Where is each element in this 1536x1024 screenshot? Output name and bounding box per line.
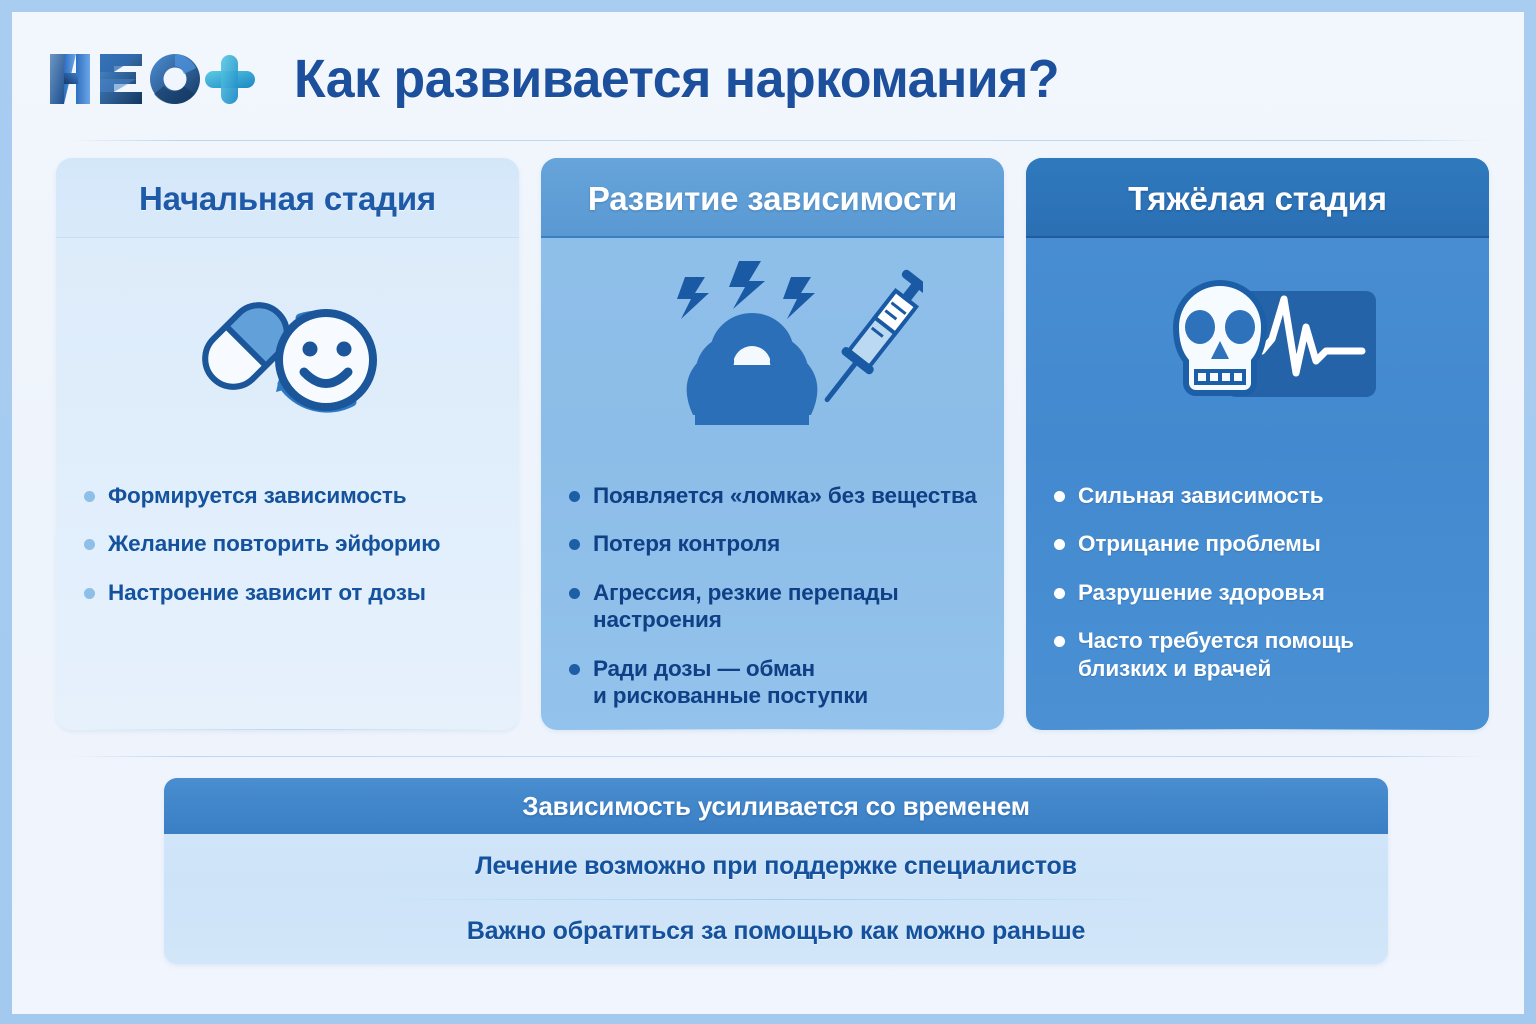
bullet-dot-icon — [1054, 539, 1065, 550]
stage-card-developing: Развитие зависимости — [541, 158, 1004, 730]
stage-icon-zone — [56, 238, 519, 452]
icon-divider — [1054, 729, 1461, 730]
list-item: Появляется «ломка» без вещества — [569, 482, 978, 509]
bullet-dot-icon — [1054, 636, 1065, 647]
bullet-text: Агрессия, резкие перепады настроения — [593, 579, 978, 634]
bullet-text: Разрушение здоровья — [1078, 579, 1325, 606]
stage-card-body: Сильная зависимость Отрицание проблемы Р… — [1026, 238, 1489, 730]
stressed-person-syringe-icon — [623, 255, 923, 435]
page-title: Как развивается наркомания? — [294, 52, 1059, 106]
neo-plus-logo-icon — [44, 46, 260, 112]
bullet-dot-icon — [84, 491, 95, 502]
list-item: Желание повторить эйфорию — [84, 530, 493, 557]
summary-header: Зависимость усиливается со временем — [164, 778, 1388, 834]
summary-row-text: Лечение возможно при поддержке специалис… — [475, 852, 1077, 881]
stage-card-header: Начальная стадия — [56, 158, 519, 238]
bullet-dot-icon — [1054, 491, 1065, 502]
list-item: Агрессия, резкие перепады настроения — [569, 579, 978, 634]
stage-card-header: Развитие зависимости — [541, 158, 1004, 238]
stage-title: Начальная стадия — [139, 182, 436, 215]
infographic-poster: Как развивается наркомания? Начальная ст… — [0, 0, 1536, 1024]
list-item: Настроение зависит от дозы — [84, 579, 493, 606]
header-divider — [68, 140, 1490, 141]
list-item: Ради дозы — обман и рискованные поступки — [569, 655, 978, 710]
stage-bullet-list: Появляется «ломка» без вещества Потеря к… — [541, 452, 1004, 710]
summary-row-list: Лечение возможно при поддержке специалис… — [164, 834, 1388, 964]
inner-panel: Как развивается наркомания? Начальная ст… — [12, 12, 1524, 1014]
bullet-dot-icon — [569, 588, 580, 599]
bullet-text: Формируется зависимость — [108, 482, 407, 509]
bullet-dot-icon — [84, 588, 95, 599]
bullet-text: Появляется «ломка» без вещества — [593, 482, 977, 509]
bullet-dot-icon — [84, 539, 95, 550]
stage-icon-zone — [541, 238, 1004, 452]
stage-bullet-list: Сильная зависимость Отрицание проблемы Р… — [1026, 452, 1489, 682]
stage-title: Тяжёлая стадия — [1128, 182, 1387, 215]
list-item: Разрушение здоровья — [1054, 579, 1463, 606]
bullet-text: Часто требуется помощь близких и врачей — [1078, 627, 1354, 682]
bullet-text: Ради дозы — обман и рискованные поступки — [593, 655, 868, 710]
stage-title: Развитие зависимости — [588, 182, 957, 215]
bullet-text: Отрицание проблемы — [1078, 530, 1321, 557]
stage-card-initial: Начальная стадия — [56, 158, 519, 730]
list-item: Формируется зависимость — [84, 482, 493, 509]
icon-divider — [569, 729, 976, 730]
list-item: Сильная зависимость — [1054, 482, 1463, 509]
stages-row: Начальная стадия — [56, 158, 1489, 730]
header: Как развивается наркомания? — [12, 12, 1524, 124]
summary-headline: Зависимость усиливается со временем — [522, 791, 1030, 822]
stage-card-header: Тяжёлая стадия — [1026, 158, 1489, 238]
bullet-dot-icon — [569, 539, 580, 550]
bullet-dot-icon — [1054, 588, 1065, 599]
stage-card-body: Формируется зависимость Желание повторит… — [56, 238, 519, 730]
stage-card-severe: Тяжёлая стадия — [1026, 158, 1489, 730]
bullet-text: Потеря контроля — [593, 530, 780, 557]
list-item: Отрицание проблемы — [1054, 530, 1463, 557]
bullet-dot-icon — [569, 664, 580, 675]
stage-card-body: Появляется «ломка» без вещества Потеря к… — [541, 238, 1004, 730]
list-item: Часто требуется помощь близких и врачей — [1054, 627, 1463, 682]
list-item: Потеря контроля — [569, 530, 978, 557]
skull-ecg-monitor-icon — [1130, 265, 1386, 425]
bottom-divider — [68, 756, 1490, 757]
summary-row: Важно обратиться за помощью как можно ра… — [164, 899, 1388, 964]
icon-divider — [84, 729, 491, 730]
bullet-text: Сильная зависимость — [1078, 482, 1323, 509]
summary-row: Лечение возможно при поддержке специалис… — [164, 834, 1388, 899]
summary-row-text: Важно обратиться за помощью как можно ра… — [467, 917, 1085, 946]
bullet-dot-icon — [569, 491, 580, 502]
bullet-text: Настроение зависит от дозы — [108, 579, 426, 606]
summary-panel: Зависимость усиливается со временем Лече… — [164, 778, 1388, 964]
stage-bullet-list: Формируется зависимость Желание повторит… — [56, 452, 519, 606]
pill-smiley-cycle-icon — [154, 256, 422, 434]
stage-icon-zone — [1026, 238, 1489, 452]
bullet-text: Желание повторить эйфорию — [108, 530, 440, 557]
